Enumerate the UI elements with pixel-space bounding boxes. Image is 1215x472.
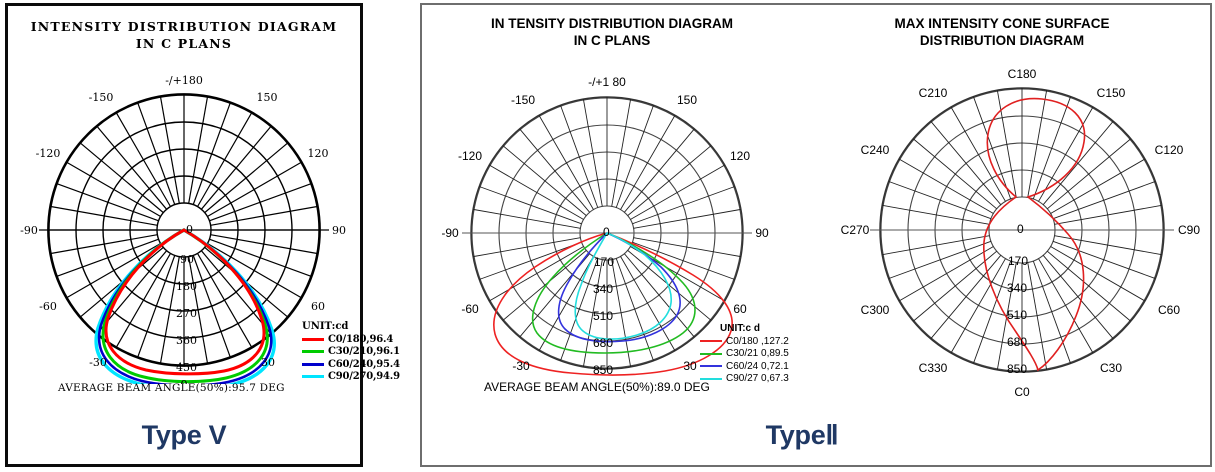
middle-angle-30: 30 xyxy=(683,359,697,373)
middle-title-line2: IN C PLANS xyxy=(462,32,762,49)
left-legend-row-c90: C90/270,94.9 xyxy=(302,371,400,384)
left-legend-swatch-c0 xyxy=(302,338,324,341)
panel-type-v: INTENSITY DISTRIBUTION DIAGRAM IN C PLAN… xyxy=(5,3,363,467)
cone-label-c90: C90 xyxy=(1178,223,1200,237)
middle-legend-row-c60: C60/24 0,72.1 xyxy=(700,360,789,373)
left-title-line1: INTENSITY DISTRIBUTION DIAGRAM xyxy=(8,18,360,35)
middle-rlabel-850: 850 xyxy=(593,363,613,377)
left-angle-150: 150 xyxy=(257,91,278,104)
middle-title-line1: IN TENSITY DISTRIBUTION DIAGRAM xyxy=(462,15,762,32)
middle-legend-label-c0: C0/180 ,127.2 xyxy=(726,336,789,347)
middle-angle-neg30: -30 xyxy=(512,359,530,373)
middle-legend-row-c90: C90/27 0,67.3 xyxy=(700,373,789,386)
left-rlabel-360: 360 xyxy=(176,334,197,347)
left-legend-swatch-c90 xyxy=(302,375,324,378)
cone-label-c30: C30 xyxy=(1100,361,1122,375)
left-angle-120: 120 xyxy=(308,147,329,160)
left-rlabel-90: 90 xyxy=(180,253,194,266)
cone-label-c210: C210 xyxy=(919,86,948,100)
cone-label-c300: C300 xyxy=(861,303,890,317)
left-angle-neg60: -60 xyxy=(39,300,57,313)
cone-rlabel-340: 340 xyxy=(1007,281,1027,295)
left-angle-60: 60 xyxy=(311,300,325,313)
left-angle-90: 90 xyxy=(332,224,346,237)
left-legend: UNIT:cd C0/180,96.4 C30/210,96.1 C60/240… xyxy=(302,321,400,383)
middle-angle-60: 60 xyxy=(733,302,747,316)
cone-label-c270: C270 xyxy=(841,223,870,237)
left-angle-neg150: -150 xyxy=(89,91,114,104)
middle-legend-swatch-c60 xyxy=(700,365,722,367)
left-title-line2: IN C PLANS xyxy=(8,35,360,52)
left-rlabel-450: 450 xyxy=(176,361,197,374)
left-angle-30: 30 xyxy=(261,356,275,369)
left-legend-row-c60: C60/240,95.4 xyxy=(302,358,400,371)
cone-label-c330: C330 xyxy=(919,361,948,375)
middle-angle-180: -/+1 80 xyxy=(588,75,626,89)
left-legend-label-c60: C60/240,95.4 xyxy=(328,359,400,370)
middle-angle-neg120: -120 xyxy=(458,149,482,163)
left-beam-angle-text: AVERAGE BEAM ANGLE(50%):95.7 DEG xyxy=(58,382,285,394)
middle-legend: UNIT:c d C0/180 ,127.2 C30/21 0,89.5 C60… xyxy=(700,323,789,385)
cone-label-c180: C180 xyxy=(1008,67,1037,81)
left-type-caption: Type V xyxy=(8,420,360,451)
middle-rlabel-680: 680 xyxy=(593,336,613,350)
middle-legend-label-c30: C30/21 0,89.5 xyxy=(726,348,789,359)
left-legend-swatch-c30 xyxy=(302,350,324,353)
cone-rlabel-850: 850 xyxy=(1007,362,1027,376)
left-angle-neg120: -120 xyxy=(36,147,61,160)
middle-panel-title: IN TENSITY DISTRIBUTION DIAGRAM IN C PLA… xyxy=(462,15,762,49)
middle-angle-90: 90 xyxy=(755,226,769,240)
middle-legend-swatch-c0 xyxy=(700,340,722,342)
cone-label-c60: C60 xyxy=(1158,303,1180,317)
cone-rlabel-170: 170 xyxy=(1008,254,1028,268)
left-rlabel-270: 270 xyxy=(176,307,197,320)
left-legend-row-c30: C30/210,96.1 xyxy=(302,346,400,359)
middle-legend-unit: UNIT:c d xyxy=(720,323,789,334)
left-legend-row-c0: C0/180,96.4 xyxy=(302,333,400,346)
cone-rlabel-510: 510 xyxy=(1007,308,1027,322)
cone-label-c0: C0 xyxy=(1014,385,1030,399)
left-rlabel-0: 0 xyxy=(186,223,193,236)
left-legend-swatch-c60 xyxy=(302,363,324,366)
cone-rlabel-680: 680 xyxy=(1007,335,1027,349)
panel-type-ii: IN TENSITY DISTRIBUTION DIAGRAM IN C PLA… xyxy=(420,3,1212,467)
cone-label-c240: C240 xyxy=(861,143,890,157)
left-rlabel-180: 180 xyxy=(176,280,197,293)
cone-rlabel-0: 0 xyxy=(1017,222,1024,236)
middle-legend-swatch-c30 xyxy=(700,353,722,355)
middle-legend-label-c90: C90/27 0,67.3 xyxy=(726,373,789,384)
right-polar-chart: 0 170 340 510 680 850 C180 C150 C210 C12… xyxy=(837,55,1207,405)
middle-angle-neg90: -90 xyxy=(442,226,459,240)
middle-angle-120: 120 xyxy=(730,149,750,163)
right-title-line2: DISTRIBUTION DIAGRAM xyxy=(852,32,1152,49)
left-angle-neg30: -30 xyxy=(89,356,107,369)
middle-legend-row-c30: C30/21 0,89.5 xyxy=(700,348,789,361)
right-type-caption: TypeⅡ xyxy=(702,420,902,451)
right-title-line1: MAX INTENSITY CONE SURFACE xyxy=(852,15,1152,32)
middle-beam-angle-text: AVERAGE BEAM ANGLE(50%):89.0 DEG xyxy=(484,380,710,394)
middle-angle-150: 150 xyxy=(677,93,697,107)
left-angle-180: -/+180 xyxy=(165,74,203,87)
left-angle-neg90: -90 xyxy=(20,224,38,237)
middle-angle-neg150: -150 xyxy=(511,93,535,107)
middle-legend-label-c60: C60/24 0,72.1 xyxy=(726,361,789,372)
right-panel-title: MAX INTENSITY CONE SURFACE DISTRIBUTION … xyxy=(852,15,1152,49)
middle-angle-neg60: -60 xyxy=(461,302,479,316)
left-legend-label-c90: C90/270,94.9 xyxy=(328,371,400,382)
middle-rlabel-170: 170 xyxy=(594,255,614,269)
left-panel-title: INTENSITY DISTRIBUTION DIAGRAM IN C PLAN… xyxy=(8,18,360,52)
left-legend-label-c0: C0/180,96.4 xyxy=(328,334,393,345)
left-legend-unit: UNIT:cd xyxy=(302,321,400,332)
cone-label-c150: C150 xyxy=(1097,86,1126,100)
middle-legend-row-c0: C0/180 ,127.2 xyxy=(700,335,789,348)
middle-rlabel-340: 340 xyxy=(593,282,613,296)
middle-rlabel-510: 510 xyxy=(593,309,613,323)
middle-rlabel-0: 0 xyxy=(603,225,610,239)
cone-label-c120: C120 xyxy=(1155,143,1184,157)
lighting-photometry-sheet: INTENSITY DISTRIBUTION DIAGRAM IN C PLAN… xyxy=(0,0,1215,472)
left-legend-label-c30: C30/210,96.1 xyxy=(328,346,400,357)
